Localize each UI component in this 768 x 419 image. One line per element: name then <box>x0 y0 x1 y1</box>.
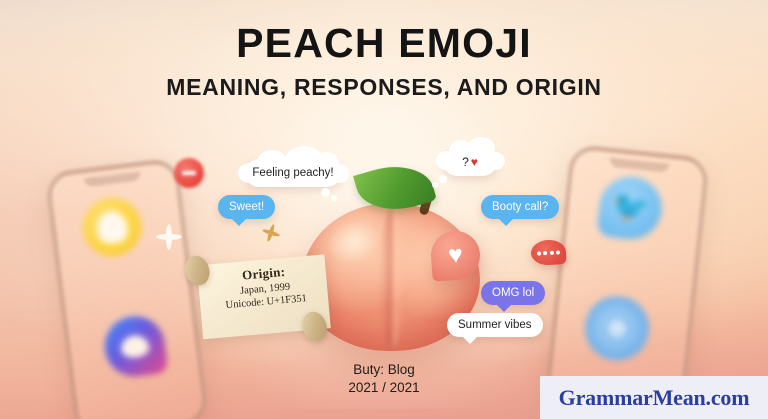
bubble-sweet: Sweet! <box>218 195 275 219</box>
messenger-bolt-glyph <box>120 334 150 359</box>
star-sparkle-icon <box>260 222 283 245</box>
peach-cleft <box>380 209 404 349</box>
bubble-summer-vibes: Summer vibes <box>447 313 543 337</box>
origin-scroll: Origin: Japan, 1999 Unicode: U+1F351 <box>182 246 342 354</box>
twitter-bird-glyph: 🐦 <box>610 191 650 225</box>
bubble-omg-lol: OMG lol <box>481 281 545 305</box>
typing-indicator-bubble-icon <box>530 239 566 266</box>
cloud-trail-dot <box>331 195 337 201</box>
sparkle-icon <box>156 224 182 250</box>
page-subtitle: MEANING, RESPONSES, AND ORIGIN <box>0 74 768 101</box>
bubble-feeling-peachy: Feeling peachy! <box>245 159 341 187</box>
typing-dot <box>556 250 560 254</box>
instagram-icon <box>582 293 652 363</box>
twitter-icon: 🐦 <box>597 174 665 242</box>
heart-icon: ♥ <box>471 155 478 169</box>
instagram-lens-glyph <box>600 312 633 345</box>
header: PEACH EMOJI MEANING, RESPONSES, AND ORIG… <box>0 22 768 101</box>
typing-dot <box>537 251 541 255</box>
notification-badge-bar <box>182 171 196 175</box>
cloud-lobe <box>487 152 505 170</box>
phone-right-notch <box>609 158 669 173</box>
page-title: PEACH EMOJI <box>0 22 768 65</box>
cloud-trail-dot <box>321 188 330 197</box>
bubble-booty-call: Booty call? <box>481 195 559 219</box>
typing-dot <box>550 250 554 254</box>
typing-dot <box>543 251 547 255</box>
cloud-trail-dot <box>439 175 447 183</box>
snapchat-icon <box>80 195 145 260</box>
cloud-trail-dot <box>432 182 438 188</box>
bubble-text: Feeling peachy! <box>252 167 333 179</box>
heart-icon: ♥ <box>447 243 464 269</box>
snapchat-ghost-glyph <box>95 210 129 245</box>
bubble-question-heart: ? ♥ <box>443 148 497 176</box>
bubble-question-mark: ? <box>462 155 471 169</box>
poster-canvas: 🐦 PEACH EMOJI MEANING, RESPONSES, AND OR… <box>0 0 768 419</box>
watermark-text: GrammarMean.com <box>559 385 750 411</box>
phone-left-notch <box>84 171 142 187</box>
watermark-badge: GrammarMean.com <box>540 376 768 419</box>
cloud-lobe <box>436 151 456 170</box>
notification-badge-icon <box>174 158 204 188</box>
